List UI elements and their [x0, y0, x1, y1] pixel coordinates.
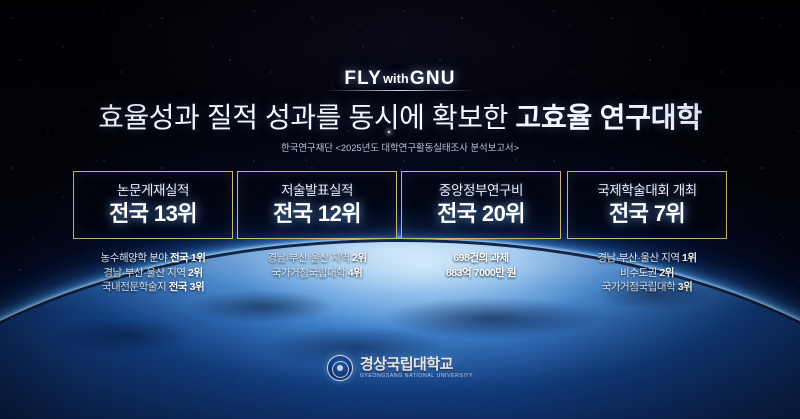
poster-canvas: FLYwithGNU 효율성과 질적 성과를 동시에 확보한 고효율 연구대학 … [0, 0, 800, 419]
metric-rank: 전국 7위 [609, 201, 685, 227]
page-title: 효율성과 질적 성과를 동시에 확보한 고효율 연구대학 [0, 101, 800, 135]
metric-notes: 경남·부산·울산 지역 1위 비수도권 2위 국가거점국립대학 3위 [567, 251, 727, 295]
note-value: 2위 [352, 252, 367, 264]
metric-box: 저술발표실적 전국 12위 [237, 171, 397, 239]
brand-with: with [383, 72, 409, 86]
note-label: 경남·부산·울산 지역 [103, 267, 188, 279]
metric-notes: 농수해양학 분야 전국 1위 경남·부산·울산 지역 2위 국내전문학술지 전국… [73, 251, 233, 295]
metric-title: 저술발표실적 [281, 183, 353, 199]
list-item: 883억 7000만 원 [401, 266, 561, 281]
metric-rank: 전국 12위 [273, 201, 361, 227]
metric-card-book-presentation: 저술발표실적 전국 12위 경남·부산·울산 지역 2위 국가거점국립대학 4위 [237, 171, 397, 280]
note-value: 4위 [348, 267, 363, 279]
note-label: 경남·부산·울산 지역 [597, 252, 682, 264]
university-signature: 경상국립대학교 Gyeongsang National University [0, 355, 800, 381]
list-item: 698건의 과제 [401, 251, 561, 266]
metric-box: 국제학술대회 개최 전국 7위 [567, 171, 727, 239]
note-label: 농수해양학 분야 [101, 252, 170, 264]
metric-rank: 전국 20위 [437, 201, 525, 227]
brand-gnu: GNU [410, 68, 456, 90]
brand-fly: FLY [344, 68, 382, 90]
brand-lockup: FLYwithGNU [0, 68, 800, 90]
metric-notes: 698건의 과제 883억 7000만 원 [401, 251, 561, 280]
metric-card-paper-publication: 논문게재실적 전국 13위 농수해양학 분야 전국 1위 경남·부산·울산 지역… [73, 171, 233, 295]
list-item: 국내전문학술지 전국 3위 [73, 280, 233, 295]
metric-title: 국제학술대회 개최 [597, 183, 697, 199]
metric-card-government-research-fund: 중앙정부연구비 전국 20위 698건의 과제 883억 7000만 원 [401, 171, 561, 280]
metric-card-international-conference: 국제학술대회 개최 전국 7위 경남·부산·울산 지역 1위 비수도권 2위 국… [567, 171, 727, 295]
university-name-en: Gyeongsang National University [360, 373, 473, 380]
note-label: 국가거점국립대학 [602, 281, 678, 293]
note-label: 국가거점국립대학 [272, 267, 348, 279]
brand-underline-divider [325, 90, 475, 91]
list-item: 농수해양학 분야 전국 1위 [73, 251, 233, 266]
university-wordmark: 경상국립대학교 Gyeongsang National University [360, 356, 473, 380]
note-value: 전국 1위 [170, 252, 206, 264]
note-value: 전국 3위 [169, 281, 205, 293]
list-item: 경남·부산·울산 지역 2위 [237, 251, 397, 266]
metric-notes: 경남·부산·울산 지역 2위 국가거점국립대학 4위 [237, 251, 397, 280]
university-name-ko: 경상국립대학교 [360, 356, 473, 373]
note-value: 2위 [188, 267, 203, 279]
list-item: 국가거점국립대학 4위 [237, 266, 397, 281]
list-item: 비수도권 2위 [567, 266, 727, 281]
note-value: 3위 [678, 281, 693, 293]
note-label: 국내전문학술지 [102, 281, 169, 293]
page-subtitle: 한국연구재단 <2025년도 대학연구활동실태조사 분석보고서> [0, 143, 800, 155]
metric-box: 논문게재실적 전국 13위 [73, 171, 233, 239]
metric-rank: 전국 13위 [109, 201, 197, 227]
note-value: 1위 [682, 252, 697, 264]
note-label: 경남·부산·울산 지역 [267, 252, 352, 264]
note-value: 698건의 과제 [453, 252, 508, 264]
university-emblem-icon [327, 355, 353, 381]
metric-title: 중앙정부연구비 [439, 183, 523, 199]
page-title-lead: 효율성과 질적 성과를 동시에 확보한 [98, 102, 515, 133]
page-title-emphasis: 고효율 연구대학 [515, 102, 702, 133]
metric-card-group: 논문게재실적 전국 13위 농수해양학 분야 전국 1위 경남·부산·울산 지역… [73, 171, 727, 291]
note-value: 2위 [659, 267, 674, 279]
note-value: 883억 7000만 원 [446, 267, 516, 279]
list-item: 경남·부산·울산 지역 1위 [567, 251, 727, 266]
list-item: 국가거점국립대학 3위 [567, 280, 727, 295]
metric-box: 중앙정부연구비 전국 20위 [401, 171, 561, 239]
metric-title: 논문게재실적 [117, 183, 189, 199]
note-label: 비수도권 [620, 267, 659, 279]
list-item: 경남·부산·울산 지역 2위 [73, 266, 233, 281]
